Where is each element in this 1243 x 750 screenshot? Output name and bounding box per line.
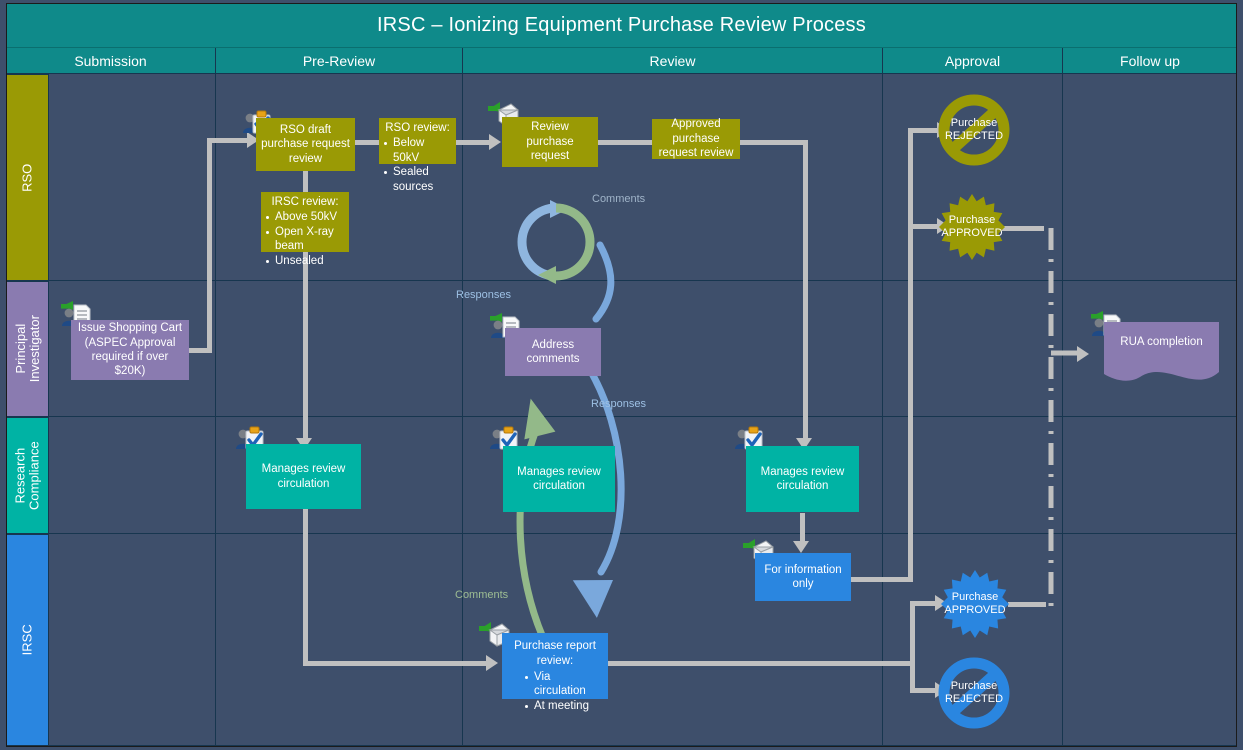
- diagram-canvas: IRSC – Ionizing Equipment Purchase Revie…: [0, 0, 1243, 750]
- diagram-frame: [6, 3, 1237, 747]
